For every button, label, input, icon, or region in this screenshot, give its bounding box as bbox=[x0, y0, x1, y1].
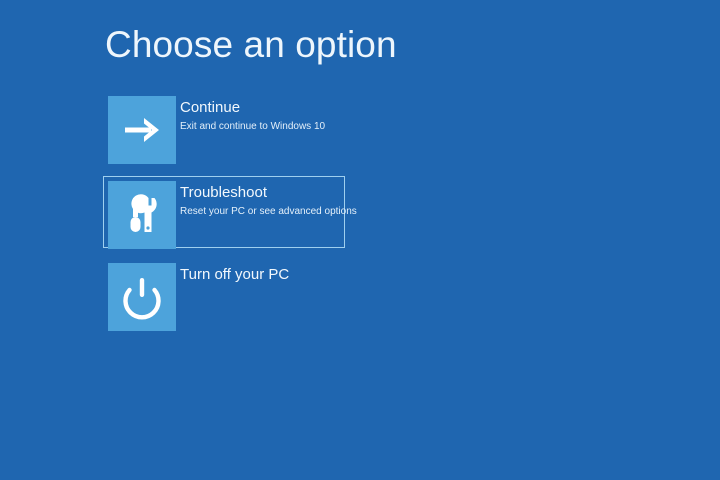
option-troubleshoot-label: Troubleshoot bbox=[180, 183, 350, 202]
option-continue[interactable]: Continue Exit and continue to Windows 10 bbox=[104, 95, 344, 166]
option-continue-label: Continue bbox=[180, 98, 350, 117]
screwdriver-wrench-icon bbox=[108, 181, 176, 249]
recovery-screen: Choose an option Continue Exit and conti… bbox=[0, 0, 720, 480]
option-continue-tile bbox=[108, 96, 176, 164]
page-title: Choose an option bbox=[105, 22, 397, 68]
option-troubleshoot-tile bbox=[108, 181, 176, 249]
option-turn-off[interactable]: Turn off your PC bbox=[104, 262, 344, 333]
option-troubleshoot-sublabel: Reset your PC or see advanced options bbox=[180, 205, 350, 219]
option-continue-text: Continue Exit and continue to Windows 10 bbox=[180, 96, 350, 134]
arrow-right-icon bbox=[108, 96, 176, 164]
option-troubleshoot-text: Troubleshoot Reset your PC or see advanc… bbox=[180, 181, 350, 219]
option-turn-off-tile bbox=[108, 263, 176, 331]
option-turn-off-label: Turn off your PC bbox=[180, 265, 350, 284]
option-troubleshoot[interactable]: Troubleshoot Reset your PC or see advanc… bbox=[103, 176, 345, 248]
power-icon bbox=[108, 263, 176, 331]
option-turn-off-text: Turn off your PC bbox=[180, 263, 350, 284]
option-continue-sublabel: Exit and continue to Windows 10 bbox=[180, 120, 350, 134]
